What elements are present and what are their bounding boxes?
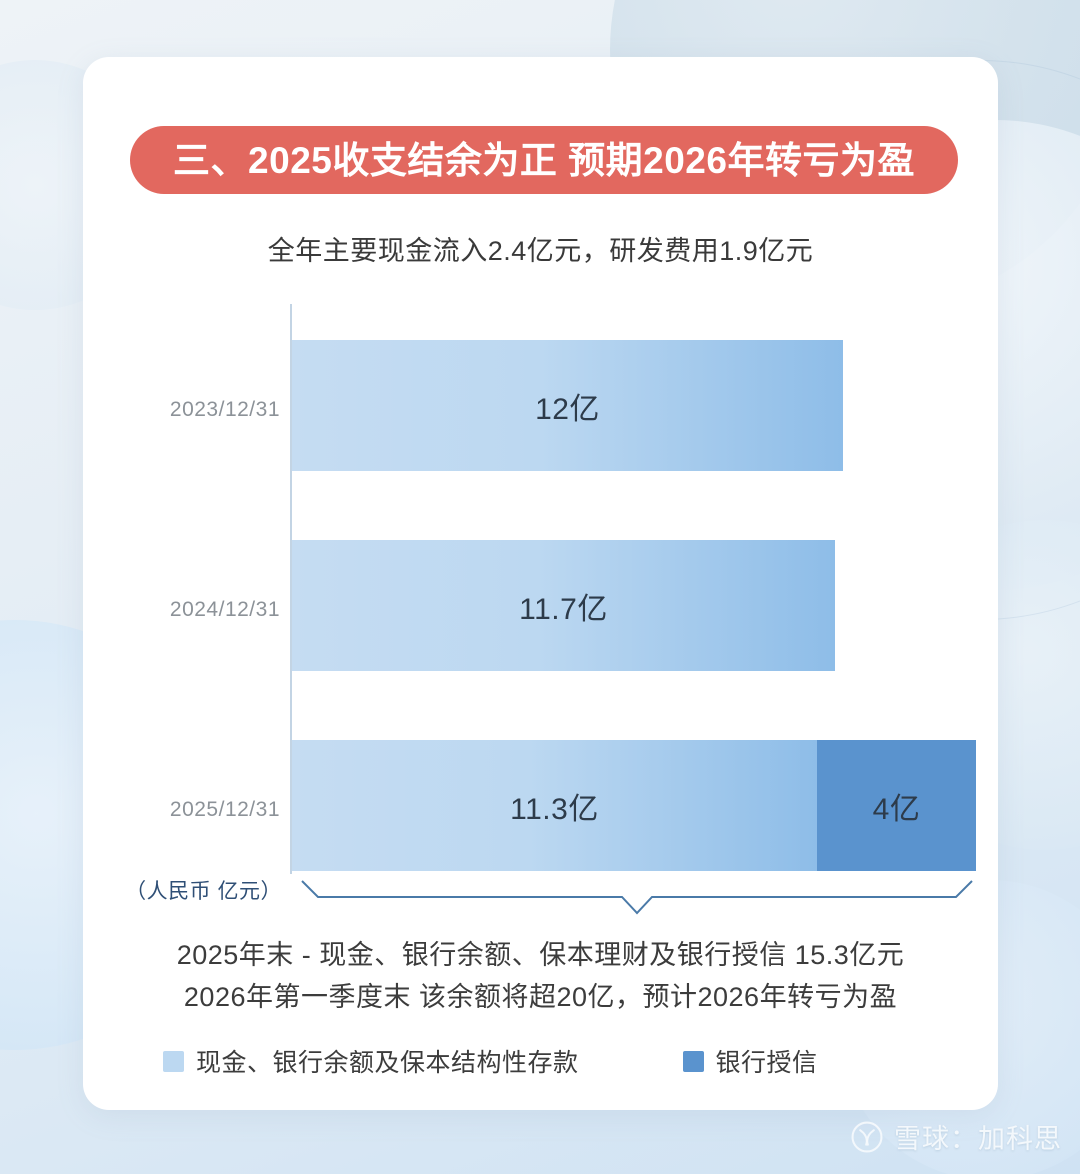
- legend-label: 现金、银行余额及保本结构性存款: [196, 1043, 579, 1079]
- bar-row-2024: 11.7亿: [292, 540, 835, 671]
- legend-swatch-icon: [163, 1051, 184, 1072]
- bar-row-2023: 12亿: [292, 340, 843, 471]
- legend-swatch-icon: [683, 1051, 704, 1072]
- bar-segment-cash: 12亿: [292, 340, 843, 471]
- category-label-2023: 2023/12/31: [125, 398, 280, 422]
- bracket-icon: [292, 879, 982, 921]
- bar-segment-cash: 11.3亿: [292, 740, 817, 871]
- annotation-block: 2025年末 - 现金、银行余额、保本理财及银行授信 15.3亿元 2026年第…: [83, 935, 998, 1019]
- legend-label: 银行授信: [716, 1043, 818, 1079]
- bar-value-label: 4亿: [873, 784, 921, 828]
- watermark-text: 雪球：加科思: [894, 1117, 1062, 1156]
- bar-value-label: 12亿: [535, 384, 600, 428]
- bar-value-label: 11.3亿: [510, 784, 599, 828]
- axis-unit-label: （人民币 亿元）: [125, 875, 282, 905]
- watermark: 雪球：加科思: [850, 1117, 1062, 1156]
- bar-segment-cash: 11.7亿: [292, 540, 835, 671]
- xueqiu-logo-icon: [850, 1120, 884, 1154]
- annotation-line-1: 2025年末 - 现金、银行余额、保本理财及银行授信 15.3亿元: [83, 935, 998, 977]
- bar-value-label: 11.7亿: [519, 584, 608, 628]
- chart-legend: 现金、银行余额及保本结构性存款 银行授信: [163, 1043, 923, 1079]
- category-label-2024: 2024/12/31: [125, 598, 280, 622]
- bar-row-2025: 11.3亿 4亿: [292, 740, 976, 871]
- annotation-line-2: 2026年第一季度末 该余额将超20亿，预计2026年转亏为盈: [83, 977, 998, 1019]
- legend-item-bank-credit: 银行授信: [683, 1043, 818, 1079]
- slide-card: 三、2025收支结余为正 预期2026年转亏为盈 全年主要现金流入2.4亿元，研…: [83, 57, 998, 1110]
- bar-segment-bank-credit: 4亿: [817, 740, 976, 871]
- category-label-2025: 2025/12/31: [125, 798, 280, 822]
- legend-item-cash: 现金、银行余额及保本结构性存款: [163, 1043, 579, 1079]
